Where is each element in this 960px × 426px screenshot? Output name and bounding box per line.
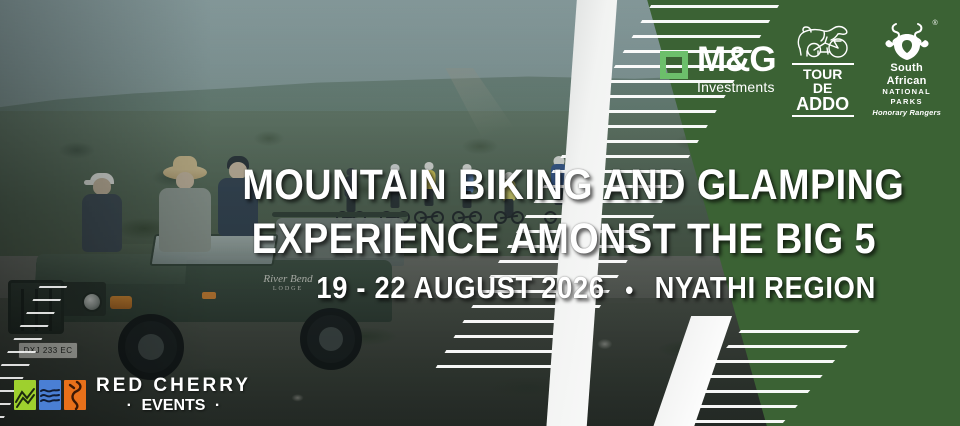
red-cherry-line1: RED CHERRY [96,376,251,395]
mg-brand-name: M&G [697,43,776,76]
elephant-on-bicycle-icon [792,21,854,61]
kudu-head-icon: ® [870,20,944,62]
mg-investments-logo[interactable]: M&G Investments [660,43,776,94]
trail-tile-icon [64,380,86,410]
registered-trademark: ® [932,20,937,27]
bullet-separator-icon: • [613,276,646,304]
event-details-line: 19 - 22 AUGUST 2026 • NYATHI REGION [242,271,876,304]
headline-line-2: EXPERIENCE AMONST THE BIG 5 [242,217,876,263]
logo-tiles [14,380,86,410]
sanparks-line2: NATIONAL PARKS [870,87,944,107]
sanparks-line1: South African [870,62,944,87]
event-promo-banner: DXJ 233 EC River Bend LODGE [0,0,960,426]
sanparks-line3: Honorary Rangers [870,108,944,118]
divider [792,115,854,117]
events-label: EVENTS [141,397,205,414]
red-cherry-line2: · EVENTS · [96,398,251,414]
headline-line-1: MOUNTAIN BIKING AND GLAMPING [242,163,876,209]
tour-de-addo-line1: TOUR DE [792,67,854,95]
divider [792,63,854,65]
tour-de-addo-line2: ADDO [792,95,854,113]
event-location: NYATHI REGION [655,270,876,305]
tour-de-addo-logo[interactable]: TOUR DE ADDO [792,21,854,117]
sponsor-logo-row: M&G Investments [660,20,944,117]
red-cherry-events-logo[interactable]: RED CHERRY · EVENTS · [14,376,251,414]
headline-block: MOUNTAIN BIKING AND GLAMPING EXPERIENCE … [156,163,876,305]
mg-tagline: Investments [697,80,776,94]
water-tile-icon [39,380,61,410]
mountains-tile-icon [14,380,36,410]
dot-left-icon: · [127,397,132,414]
sanparks-honorary-rangers-logo[interactable]: ® South African NATIONAL PARKS Honorary … [870,20,944,117]
red-cherry-wordmark: RED CHERRY · EVENTS · [96,376,251,414]
dot-right-icon: · [215,397,220,414]
event-dates: 19 - 22 AUGUST 2026 [316,270,604,305]
mg-square-icon [660,51,688,79]
